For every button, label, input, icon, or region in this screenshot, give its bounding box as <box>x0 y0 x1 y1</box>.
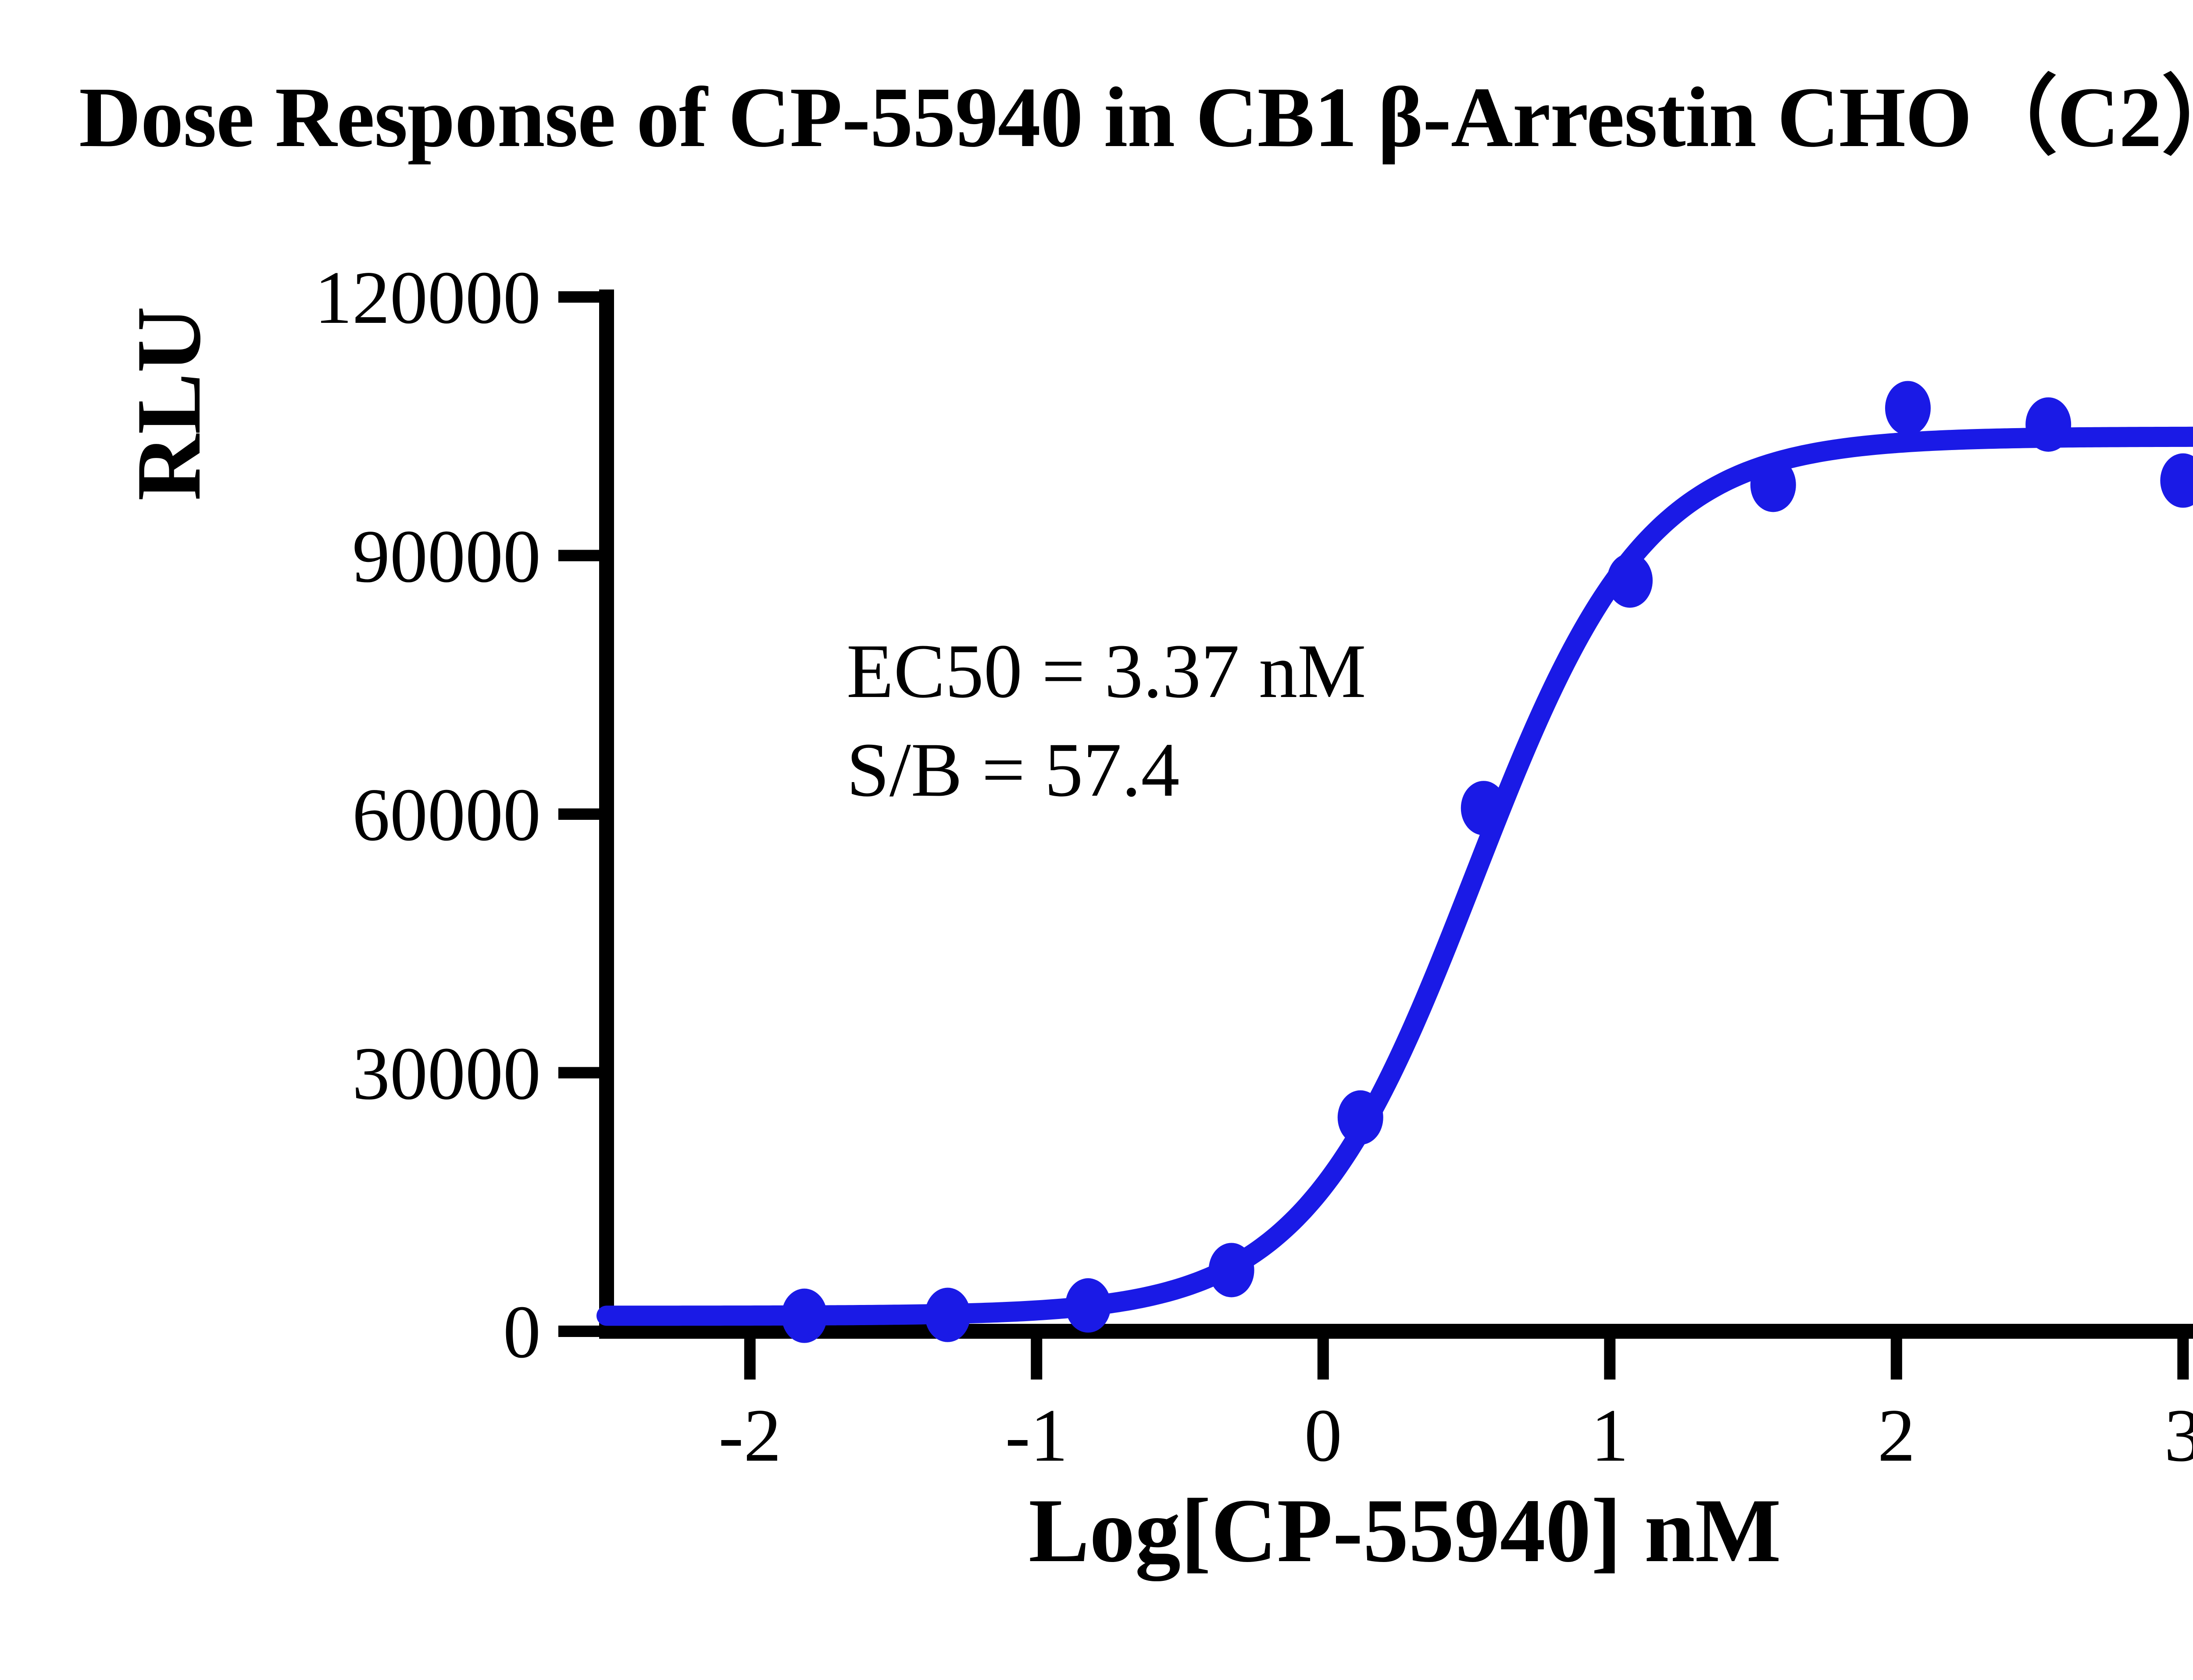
data-point-7 <box>1750 458 1796 512</box>
y-axis-tick-label-1: 30000 <box>102 1031 541 1117</box>
x-axis-title: Log[CP-55940] nM <box>607 1478 2193 1583</box>
data-point-6 <box>1607 553 1653 608</box>
fit-curve <box>607 437 2193 1316</box>
fit-curve-path <box>607 437 2193 1316</box>
y-axis-tick-label-0: 0 <box>102 1289 541 1376</box>
y-axis-title: RLU <box>116 206 222 601</box>
x-axis-tick-label-4: 2 <box>1809 1393 1984 1479</box>
data-point-0 <box>782 1289 827 1343</box>
axes-group <box>558 290 2193 1380</box>
x-axis-tick-label-3: 1 <box>1522 1393 1697 1479</box>
annotation-ec50: EC50 = 3.37 nM <box>846 627 1366 716</box>
x-axis-tick-label-0: -2 <box>662 1393 838 1479</box>
x-axis-tick-label-2: 0 <box>1236 1393 1411 1479</box>
data-point-8 <box>1885 381 1931 435</box>
annotation-signal-to-background: S/B = 57.4 <box>846 726 1179 815</box>
data-point-1 <box>925 1288 971 1342</box>
data-point-5 <box>1461 781 1507 835</box>
data-point-2 <box>1065 1278 1111 1333</box>
data-point-10 <box>2160 454 2193 508</box>
data-point-9 <box>2025 397 2071 452</box>
y-axis-title-text: RLU <box>116 306 222 500</box>
chart-figure: Dose Response of CP-55940 in CB1 β-Arres… <box>0 0 2193 1680</box>
data-point-3 <box>1209 1243 1254 1297</box>
data-point-4 <box>1338 1090 1383 1145</box>
x-axis-tick-label-5: 3 <box>2095 1393 2193 1479</box>
x-axis-tick-label-1: -1 <box>949 1393 1124 1479</box>
y-axis-tick-label-2: 60000 <box>102 772 541 858</box>
